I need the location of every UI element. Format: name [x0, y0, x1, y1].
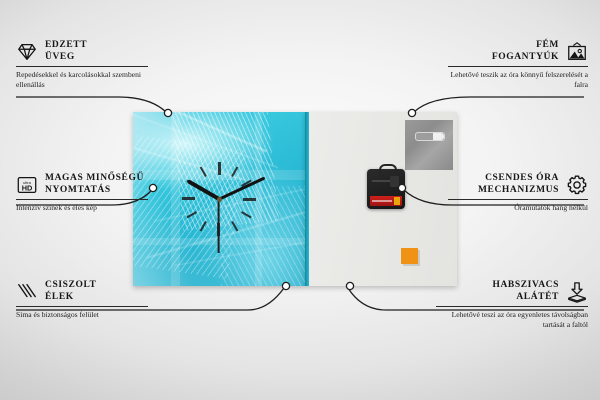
diamond-icon	[16, 41, 38, 63]
clock-back-panel	[305, 112, 457, 286]
svg-text:HD: HD	[22, 183, 33, 192]
clock-dial	[133, 112, 305, 286]
mechanism-slit	[390, 176, 399, 187]
callout-title: MAGAS MINŐSÉGŰ NYOMTATÁS	[45, 173, 144, 196]
clock-mechanism-part	[367, 169, 405, 209]
divider	[16, 199, 148, 200]
callout-description: Repedésekkel és karcolásokkal szembeni e…	[16, 70, 148, 89]
infographic-canvas: EDZETT ÜVEG Repedésekkel és karcolásokka…	[0, 0, 600, 400]
callout-title: FÉM FOGANTYÚK	[492, 40, 559, 63]
callout-polished-edges: CSISZOLT ÉLEK Sima és biztonságos felüle…	[16, 280, 148, 320]
divider	[16, 66, 148, 67]
polished-edges-icon	[16, 281, 38, 303]
foam-pad-part	[401, 248, 418, 264]
callout-metal-handles: FÉM FOGANTYÚK Lehetővé teszik az óra kön…	[448, 40, 588, 89]
ultra-hd-icon: ultra HD	[16, 174, 38, 196]
picture-hanger-icon	[566, 41, 588, 63]
callout-title: HABSZIVACS ALÁTÉT	[492, 280, 559, 303]
divider	[436, 306, 588, 307]
battery-label	[372, 200, 392, 202]
clock-second-hand	[218, 199, 220, 253]
callout-header: CSISZOLT ÉLEK	[16, 280, 148, 303]
battery-part	[370, 196, 402, 206]
callout-foam-pad: HABSZIVACS ALÁTÉT Lehetővé teszi az óra …	[436, 280, 588, 329]
leader-line-glass	[16, 97, 166, 112]
callout-silent-mechanism: CSENDES ÓRA MECHANIZMUS Óramutatók hang …	[448, 173, 588, 213]
product-photo	[133, 112, 457, 286]
callout-title: CSENDES ÓRA MECHANIZMUS	[478, 173, 559, 196]
callout-header: HABSZIVACS ALÁTÉT	[436, 280, 588, 303]
divider	[448, 66, 588, 67]
callout-header: EDZETT ÜVEG	[16, 40, 148, 63]
callout-tempered-glass: EDZETT ÜVEG Repedésekkel és karcolásokka…	[16, 40, 148, 89]
leader-line-handles	[414, 97, 584, 112]
gear-icon	[566, 174, 588, 196]
callout-header: CSENDES ÓRA MECHANIZMUS	[448, 173, 588, 196]
callout-description: Óramutatók hang nélkül	[448, 203, 588, 213]
callout-high-quality-print: ultra HD MAGAS MINŐSÉGŰ NYOMTATÁS Intenz…	[16, 173, 148, 213]
callout-header: FÉM FOGANTYÚK	[448, 40, 588, 63]
battery-plus-terminal	[394, 197, 400, 205]
glass-edge	[305, 112, 309, 286]
mechanism-loop	[379, 164, 397, 175]
divider	[448, 199, 588, 200]
callout-description: Lehetővé teszi az óra egyenletes távolsá…	[436, 310, 588, 329]
metal-hanger-part	[405, 120, 453, 170]
callout-description: Lehetővé teszik az óra könnyű felszerelé…	[448, 70, 588, 89]
hanger-slot	[415, 132, 445, 141]
clock-front-panel	[133, 112, 305, 286]
mechanism-slit	[372, 180, 392, 182]
foam-pad-icon	[566, 281, 588, 303]
divider	[16, 306, 148, 307]
callout-title: EDZETT ÜVEG	[45, 40, 87, 63]
callout-header: ultra HD MAGAS MINŐSÉGŰ NYOMTATÁS	[16, 173, 148, 196]
callout-title: CSISZOLT ÉLEK	[45, 280, 96, 303]
callout-description: Sima és biztonságos felület	[16, 310, 148, 320]
callout-description: Intenzív színek és éles kép	[16, 203, 148, 213]
clock-center-pin	[217, 197, 222, 202]
